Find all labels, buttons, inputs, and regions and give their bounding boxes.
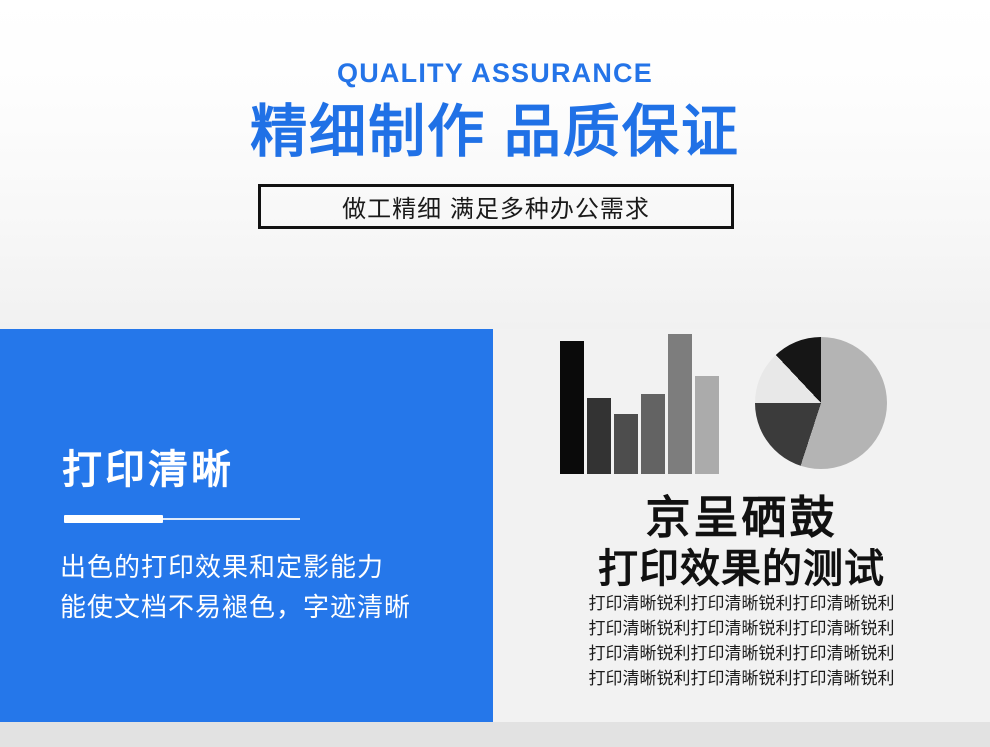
left-panel-body: 出色的打印效果和定影能力 能使文档不易褪色，字迹清晰: [60, 547, 411, 627]
brand-subtitle: 打印效果的测试: [493, 536, 990, 594]
page-title: 精细制作 品质保证: [0, 99, 990, 165]
left-panel-divider: [64, 515, 300, 523]
bar-chart-bar: [587, 398, 611, 474]
pie-chart: [755, 337, 887, 469]
bar-chart: [560, 334, 725, 474]
charts-container: [493, 329, 990, 474]
promo-page: QUALITY ASSURANCE 精细制作 品质保证 做工精细 满足多种办公需…: [0, 0, 990, 747]
left-blue-panel: 打印清晰 出色的打印效果和定影能力 能使文档不易褪色，字迹清晰: [0, 329, 493, 722]
divider-thin-segment: [163, 518, 300, 520]
left-panel-body-line-2: 能使文档不易褪色，字迹清晰: [60, 587, 411, 627]
divider-thick-segment: [64, 515, 163, 523]
header-kicker: QUALITY ASSURANCE: [0, 58, 990, 89]
print-sample-line: 打印清晰锐利打印清晰锐利打印清晰锐利: [493, 616, 990, 641]
right-gray-panel: 京呈硒鼓 打印效果的测试 打印清晰锐利打印清晰锐利打印清晰锐利打印清晰锐利打印清…: [493, 329, 990, 722]
bar-chart-bar: [560, 341, 584, 474]
print-sample-line: 打印清晰锐利打印清晰锐利打印清晰锐利: [493, 641, 990, 666]
left-panel-title: 打印清晰: [62, 437, 234, 495]
print-sample-lines: 打印清晰锐利打印清晰锐利打印清晰锐利打印清晰锐利打印清晰锐利打印清晰锐利打印清晰…: [493, 591, 990, 691]
subtitle-box: 做工精细 满足多种办公需求: [258, 184, 734, 229]
bar-chart-bar: [614, 414, 638, 474]
bar-chart-bar: [641, 394, 665, 474]
subtitle-text: 做工精细 满足多种办公需求: [342, 189, 650, 224]
header-section: QUALITY ASSURANCE 精细制作 品质保证 做工精细 满足多种办公需…: [0, 0, 990, 329]
lower-section: 打印清晰 出色的打印效果和定影能力 能使文档不易褪色，字迹清晰 京呈硒鼓 打印效…: [0, 329, 990, 722]
print-sample-line: 打印清晰锐利打印清晰锐利打印清晰锐利: [493, 666, 990, 691]
bar-chart-bar: [695, 376, 719, 474]
print-sample-line: 打印清晰锐利打印清晰锐利打印清晰锐利: [493, 591, 990, 616]
left-panel-body-line-1: 出色的打印效果和定影能力: [60, 547, 411, 587]
bottom-band: [0, 722, 990, 747]
bar-chart-bar: [668, 334, 692, 474]
